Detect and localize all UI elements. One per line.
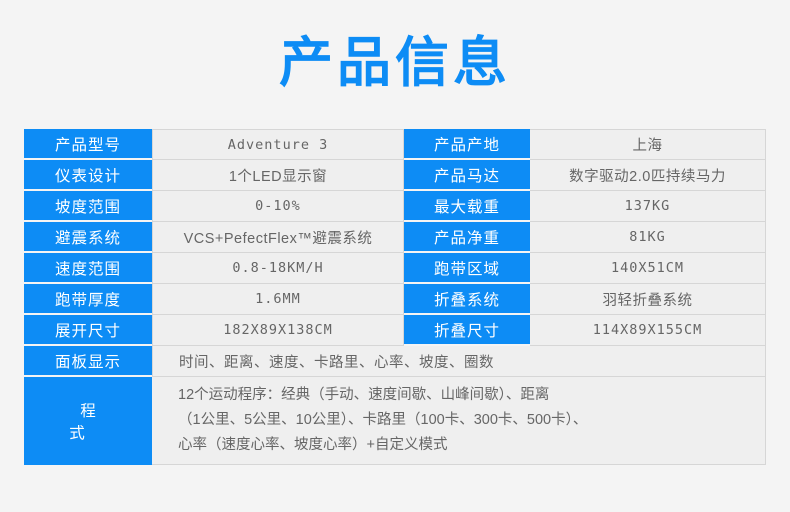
spec-value-cushioning: VCS+PefectFlex™避震系统 bbox=[152, 222, 404, 253]
spec-value-origin: 上海 bbox=[530, 129, 766, 160]
spec-label-motor: 产品马达 bbox=[404, 160, 530, 191]
table-row: 避震系统 VCS+PefectFlex™避震系统 产品净重 81KG bbox=[24, 222, 766, 253]
spec-value-console-design: 1个LED显示窗 bbox=[152, 160, 404, 191]
product-info-page: 产品信息 产品型号 Adventure 3 产品产地 上海 仪表设计 1个LED… bbox=[0, 0, 790, 512]
spec-value-motor: 数字驱动2.0匹持续马力 bbox=[530, 160, 766, 191]
spec-label-cushioning: 避震系统 bbox=[24, 222, 152, 253]
program-line-1: 12个运动程序：经典（手动、速度间歇、山峰间歇）、距离 bbox=[178, 383, 755, 408]
spec-value-net-weight: 81KG bbox=[530, 222, 766, 253]
product-spec-table: 产品型号 Adventure 3 产品产地 上海 仪表设计 1个LED显示窗 产… bbox=[24, 129, 766, 465]
spec-label-unfolded-size: 展开尺寸 bbox=[24, 315, 152, 346]
spec-label-folding-system: 折叠系统 bbox=[404, 284, 530, 315]
table-row: 仪表设计 1个LED显示窗 产品马达 数字驱动2.0匹持续马力 bbox=[24, 160, 766, 191]
spec-value-unfolded-size: 182X89X138CM bbox=[152, 315, 404, 346]
spec-value-max-load: 137KG bbox=[530, 191, 766, 222]
table-row: 速度范围 0.8-18KM/H 跑带区域 140X51CM bbox=[24, 253, 766, 284]
spec-value-speed-range: 0.8-18KM/H bbox=[152, 253, 404, 284]
program-line-3: 心率（速度心率、坡度心率）+自定义模式 bbox=[178, 433, 755, 458]
spec-label-speed-range: 速度范围 bbox=[24, 253, 152, 284]
spec-label-max-load: 最大载重 bbox=[404, 191, 530, 222]
spec-label-product-model: 产品型号 bbox=[24, 129, 152, 160]
spec-label-incline-range: 坡度范围 bbox=[24, 191, 152, 222]
table-row: 跑带厚度 1.6MM 折叠系统 羽轻折叠系统 bbox=[24, 284, 766, 315]
spec-value-programs: 12个运动程序：经典（手动、速度间歇、山峰间歇）、距离 （1公里、5公里、10公… bbox=[152, 377, 766, 465]
spec-value-belt-thickness: 1.6MM bbox=[152, 284, 404, 315]
table-row: 展开尺寸 182X89X138CM 折叠尺寸 114X89X155CM bbox=[24, 315, 766, 346]
table-row-panel-display: 面板显示 时间、距离、速度、卡路里、心率、坡度、圈数 bbox=[24, 346, 766, 377]
spec-value-folded-size: 114X89X155CM bbox=[530, 315, 766, 346]
spec-label-programs: 程 式 bbox=[24, 377, 152, 465]
spec-label-net-weight: 产品净重 bbox=[404, 222, 530, 253]
spec-label-belt-thickness: 跑带厚度 bbox=[24, 284, 152, 315]
spec-label-folded-size: 折叠尺寸 bbox=[404, 315, 530, 346]
spec-label-origin: 产品产地 bbox=[404, 129, 530, 160]
page-title: 产品信息 bbox=[0, 30, 790, 96]
table-row-programs: 程 式 12个运动程序：经典（手动、速度间歇、山峰间歇）、距离 （1公里、5公里… bbox=[24, 377, 766, 465]
spec-value-incline-range: 0-10% bbox=[152, 191, 404, 222]
spec-value-panel-display: 时间、距离、速度、卡路里、心率、坡度、圈数 bbox=[152, 346, 766, 377]
program-line-2: （1公里、5公里、10公里）、卡路里（100卡、300卡、500卡）、 bbox=[178, 408, 755, 433]
spec-value-folding-system: 羽轻折叠系统 bbox=[530, 284, 766, 315]
spec-value-belt-area: 140X51CM bbox=[530, 253, 766, 284]
spec-label-panel-display: 面板显示 bbox=[24, 346, 152, 377]
table-row: 坡度范围 0-10% 最大载重 137KG bbox=[24, 191, 766, 222]
spec-label-belt-area: 跑带区域 bbox=[404, 253, 530, 284]
table-row: 产品型号 Adventure 3 产品产地 上海 bbox=[24, 129, 766, 160]
spec-label-console-design: 仪表设计 bbox=[24, 160, 152, 191]
spec-value-product-model: Adventure 3 bbox=[152, 129, 404, 160]
